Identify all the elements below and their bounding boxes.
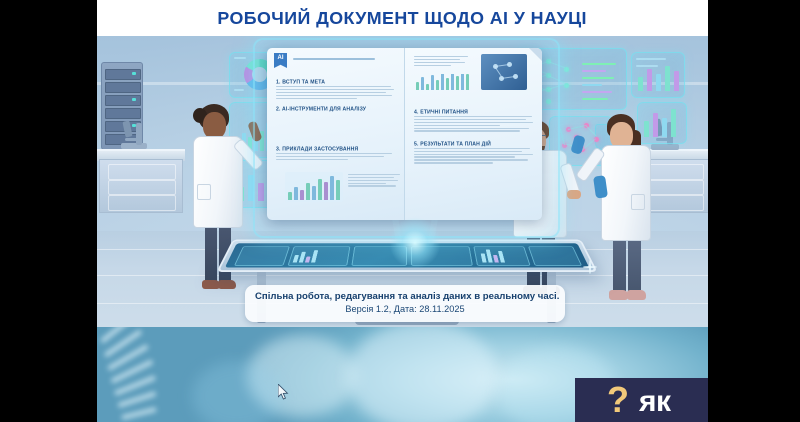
open-document[interactable]: AI 1. ВСТУП ТА МЕТА 2. AI-ІНСТРУМЕНТИ ДЛ…	[267, 48, 542, 220]
laboratory-illustration: AI 1. ВСТУП ТА МЕТА 2. AI-ІНСТРУМЕНТИ ДЛ…	[97, 36, 708, 327]
document-section: 5. РЕЗУЛЬТАТИ ТА ПЛАН ДІЙ	[414, 141, 535, 164]
dna-helix	[97, 327, 201, 422]
lab-coat	[601, 145, 651, 241]
lab-cabinet-left	[99, 159, 183, 213]
letterbox-bar-right	[708, 0, 800, 422]
right-page-bars	[414, 74, 474, 96]
mouse-cursor	[278, 384, 289, 400]
document-page-left: AI 1. ВСТУП ТА МЕТА 2. AI-ІНСТРУМЕНТИ ДЛ…	[267, 48, 405, 220]
document-section: 1. ВСТУП ТА МЕТА	[276, 79, 396, 99]
holo-right-readout	[631, 52, 685, 98]
coat-pocket	[631, 194, 645, 210]
right-top-bullets	[414, 56, 468, 68]
sparkle-icon	[583, 260, 597, 274]
person-female-scientist-right	[591, 114, 669, 304]
section-area-chart	[285, 172, 343, 202]
video-content-area: РОБОЧИЙ ДОКУМЕНТ ЩОДО AI У НАУЦІ	[97, 0, 708, 422]
screenshot-root: РОБОЧИЙ ДОКУМЕНТ ЩОДО AI У НАУЦІ	[0, 0, 800, 422]
question-overlay-panel: ? як	[575, 378, 708, 422]
page-title: РОБОЧИЙ ДОКУМЕНТ ЩОДО AI У НАУЦІ	[218, 8, 588, 29]
letterbox-bar-left	[0, 0, 97, 422]
document-section: 3. ПРИКЛАДИ ЗАСТОСУВАННЯ	[276, 146, 396, 160]
section-heading: 4. ЕТИЧНІ ПИТАННЯ	[414, 108, 543, 114]
question-mark-icon: ?	[607, 380, 629, 420]
document-page-right: 4. ЕТИЧНІ ПИТАННЯ 5. РЕЗУЛЬТАТИ ТА ПЛАН …	[405, 48, 543, 220]
caption-line-2: Версія 1.2, Дата: 28.11.2025	[255, 303, 555, 316]
ai-badge: AI	[274, 53, 287, 68]
page-fold-corner	[529, 48, 542, 61]
section-heading: 2. AI-ІНСТРУМЕНТИ ДЛЯ АНАЛІЗУ	[276, 105, 405, 111]
section-heading: 5. РЕЗУЛЬТАТИ ТА ПЛАН ДІЙ	[414, 140, 543, 146]
overlay-partial-text: як	[639, 383, 671, 421]
caption-line-1: Спільна робота, редагування та аналіз да…	[255, 290, 555, 303]
hand-right	[567, 190, 581, 199]
coat-pocket	[197, 184, 211, 200]
section-heading: 1. ВСТУП ТА МЕТА	[276, 78, 405, 84]
document-section: 4. ЕТИЧНІ ПИТАННЯ	[414, 109, 535, 132]
document-section: 2. AI-ІНСТРУМЕНТИ ДЛЯ АНАЛІЗУ	[276, 106, 396, 111]
title-band: РОБОЧИЙ ДОКУМЕНТ ЩОДО AI У НАУЦІ	[97, 0, 708, 36]
document-title-rule	[293, 58, 375, 60]
right-page-image	[481, 54, 527, 90]
microscope-left-icon	[119, 119, 149, 149]
section-heading: 3. ПРИКЛАДИ ЗАСТОСУВАННЯ	[276, 145, 405, 151]
lower-blurred-scene: ? як	[97, 327, 708, 422]
caption-box: Спільна робота, редагування та аналіз да…	[245, 285, 565, 322]
table-center-glow	[389, 217, 441, 269]
